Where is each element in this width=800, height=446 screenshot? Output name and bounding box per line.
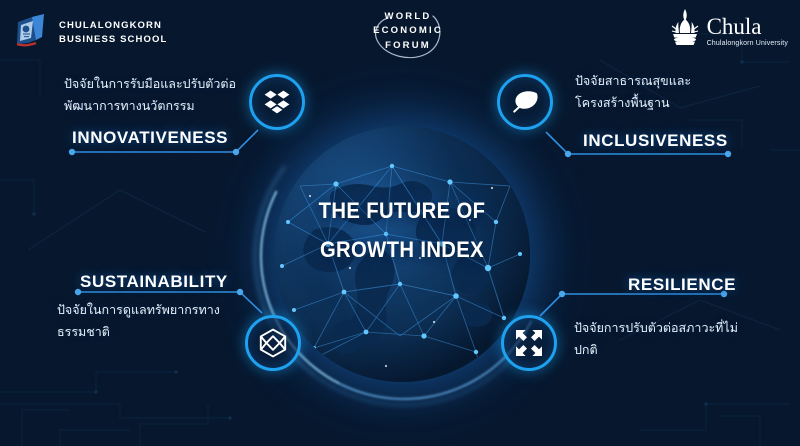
leaf-icon (511, 90, 539, 114)
logo-chula-subtitle: Chulalongkorn University (707, 40, 788, 47)
pillar-description-innovativeness: ปัจจัยในการรับมือและปรับตัวต่อ พัฒนาการท… (64, 74, 264, 117)
pillar-label-inclusiveness: INCLUSIVENESS (583, 131, 728, 151)
pillar-icon-resilience[interactable] (501, 315, 557, 371)
logo-chula-word: Chula (707, 15, 788, 38)
center-title-line-1: THE FUTURE OF (292, 192, 513, 231)
pillar-label-innovativeness: INNOVATIVENESS (72, 128, 228, 148)
center-title-line-2: GROWTH INDEX (292, 231, 513, 270)
logo-chula-text: Chula Chulalongkorn University (707, 15, 788, 47)
infographic-canvas: THE FUTURE OF GROWTH INDEX ปัจจัยในการรั… (0, 0, 800, 446)
pillar-description-sustainability: ปัจจัยในการดูแลทรัพยากรทาง ธรรมชาติ (57, 300, 267, 343)
pillar-label-resilience: RESILIENCE (628, 275, 736, 295)
logo-cbs-text: CHULALONGKORN BUSINESS SCHOOL (59, 19, 167, 47)
center-title: THE FUTURE OF GROWTH INDEX (292, 192, 513, 269)
pillar-description-inclusiveness: ปัจจัยสาธารณสุขและ โครงสร้างพื้นฐาน (575, 71, 775, 114)
logo-wef-text: WORLD ECONOMIC FORUM (362, 10, 454, 53)
phra-kiao-crown-icon (670, 8, 700, 53)
logo-world-economic-forum: WORLD ECONOMIC FORUM (362, 10, 454, 53)
logo-chulalongkorn-business-school: CHULALONGKORN BUSINESS SCHOOL (12, 12, 167, 53)
layers-diamond-icon (264, 90, 290, 114)
logo-chula-university: Chula Chulalongkorn University (670, 8, 788, 53)
pillar-label-sustainability: SUSTAINABILITY (80, 272, 228, 292)
book-emblem-icon (12, 12, 50, 53)
pillar-description-resilience: ปัจจัยการปรับตัวต่อสภาวะที่ไม่ ปกติ (574, 318, 779, 361)
expand-arrows-icon (515, 329, 543, 357)
pillar-icon-inclusiveness[interactable] (497, 74, 553, 130)
